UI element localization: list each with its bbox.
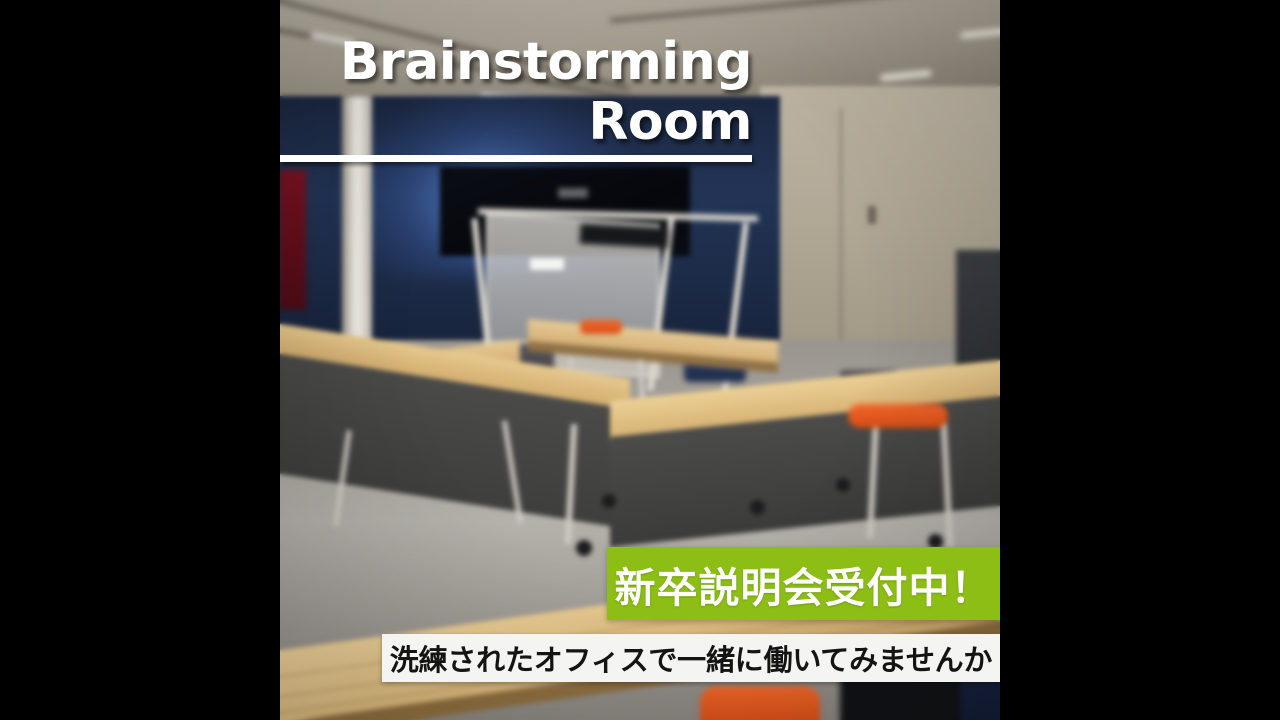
red-wall-panel (280, 170, 306, 310)
letterbox-left (0, 0, 280, 720)
caption-text: 洗練されたオフィスで一緒に働いてみませんか (390, 637, 992, 679)
recruiting-badge: 新卒説明会受付中！ (607, 547, 1000, 620)
table-caster (602, 494, 616, 508)
orange-chair (580, 320, 622, 334)
door-edge (840, 108, 842, 348)
ceiling-light-icon (880, 69, 932, 81)
title-underline (280, 155, 752, 162)
ceiling-rail-icon (280, 0, 629, 91)
table-caster (576, 540, 592, 556)
ceiling-light-icon (400, 51, 441, 66)
door-handle-icon (868, 206, 876, 224)
recruiting-badge-label: 新卒説明会受付中！ (615, 554, 993, 614)
orange-chair (848, 404, 948, 428)
whiteboard-label (530, 258, 564, 270)
table-caster (836, 478, 850, 492)
letterbox-right (1000, 0, 1280, 720)
orange-chair (700, 686, 820, 720)
caption-bar: 洗練されたオフィスで一緒に働いてみませんか (382, 634, 1000, 682)
video-player: Brainstorming Room 新卒説明会受付中！ 洗練されたオフィスで一… (0, 0, 1280, 720)
ceiling-light-icon (310, 32, 356, 48)
ceiling-light-icon (960, 28, 1000, 40)
monitor-label (558, 188, 588, 198)
ceiling-rail-icon (610, 0, 1000, 23)
table-caster (750, 500, 765, 515)
video-frame: Brainstorming Room 新卒説明会受付中！ 洗練されたオフィスで一… (280, 0, 1000, 720)
